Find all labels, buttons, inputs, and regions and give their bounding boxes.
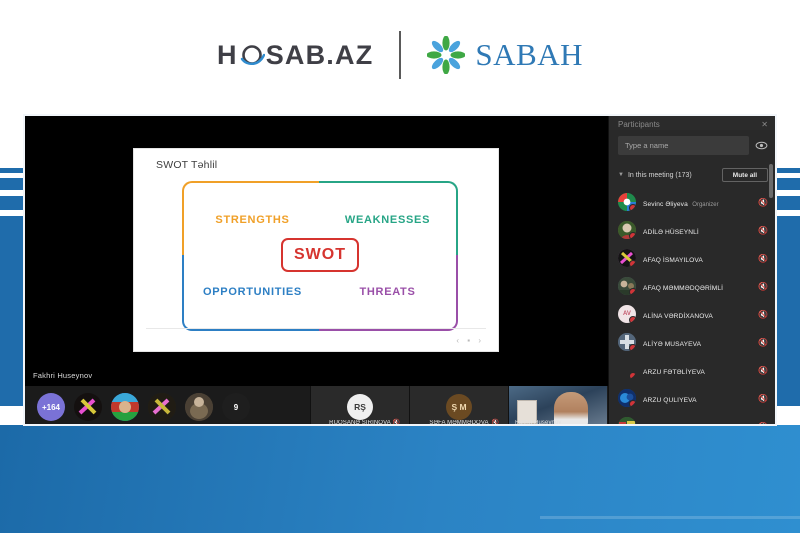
swot-diagram: STRENGTHS WEAKNESSES OPPORTUNITIES THREA… [182,181,458,329]
slide-navigation-controls[interactable]: ‹ ▪ › [456,336,484,345]
participant-filmstrip: +164 9 RŞ RÜQSANƏ ŞİRİNOVA 🔇 [25,386,612,426]
participant-name: ADİLƏ HÜSEYNLİ [643,229,699,236]
list-item[interactable]: ADİLƏ HÜSEYNLİ 🔇 [609,216,776,244]
filmstrip-avatar-2[interactable] [111,393,139,421]
presenter-name-label: Fakhri Huseynov [33,371,92,380]
mute-icon[interactable]: 🔇 [758,310,768,319]
list-item[interactable]: AFAQ MƏMMƏDQƏRİMLİ 🔇 [609,272,776,300]
participants-panel: Participants ✕ Type a name ▼ In this mee… [608,116,775,426]
hesab-logo-text-part2: SAB.AZ [266,40,374,71]
swot-center-label: SWOT [281,238,359,272]
participant-name-wrap: AFAQ İSMAYILOVA [643,249,758,267]
filmstrip-tile-1[interactable]: Ş M ŞƏFA MƏMMƏDOVA 🔇 [409,386,508,426]
participant-name: ALİYƏ MUSAYEVA [643,341,701,348]
bottom-blue-panel [0,425,800,533]
participant-name: ARZU QULIYEVA [643,397,697,404]
mute-icon[interactable]: 🔇 [758,254,768,263]
avatar: AV [618,305,636,323]
mute-icon[interactable]: 🔇 [758,422,768,427]
hesab-az-logo: H SAB.AZ [217,40,373,71]
close-icon[interactable]: ✕ [761,120,768,129]
tile-mute-icon-0: 🔇 [393,419,400,426]
avatar [618,333,636,351]
screenshot-root: H SAB.AZ [0,0,800,533]
tile-name-2: Fakhri Huseynov [509,420,607,426]
logo-row: H SAB.AZ [217,31,583,79]
scrollbar-thumb[interactable] [769,164,773,198]
list-item[interactable]: AFAQ İSMAYILOVA 🔇 [609,244,776,272]
avatar [618,389,636,407]
mute-icon[interactable]: 🔇 [758,366,768,375]
list-item[interactable]: ALİYƏ MUSAYEVA 🔇 [609,328,776,356]
mute-icon[interactable]: 🔇 [758,198,768,207]
search-input[interactable]: Type a name [618,136,749,155]
meeting-stage: SWOT Təhlil STRENGTHS WEAKNESSES OPPORTU… [25,116,612,386]
avatar [618,277,636,295]
avatar [618,193,636,211]
avatar [618,361,636,379]
swot-label-threats: THREATS [359,286,415,298]
participants-scrollbar[interactable] [769,164,773,414]
participant-name-wrap: AFAQ MƏMMƏDQƏRİMLİ [643,277,758,295]
teams-meeting-window: SWOT Təhlil STRENGTHS WEAKNESSES OPPORTU… [23,114,777,426]
avatar [618,249,636,267]
participant-name: ARZU FƏTƏLİYEVA [643,369,705,376]
mute-icon[interactable]: 🔇 [758,226,768,235]
list-item[interactable]: Sevinc Əliyeva Organizer 🔇 [609,188,776,216]
sabah-flower-icon [427,36,465,74]
panel-title: Participants [618,120,660,129]
in-meeting-section-row: ▼ In this meeting (173) Mute all [618,167,768,183]
filmstrip-avatar-3[interactable] [148,393,176,421]
avatar [618,221,636,239]
mute-icon[interactable]: 🔇 [758,282,768,291]
list-item[interactable]: ARZU QULIYEVA 🔇 [609,384,776,412]
avatar-rail: +164 9 [25,386,310,426]
slide-footer-rule [146,328,486,329]
filmstrip-tile-0[interactable]: RŞ RÜQSANƏ ŞİRİNOVA 🔇 [310,386,409,426]
overflow-count-avatar[interactable]: +164 [37,393,65,421]
participant-search-row: Type a name [618,136,768,155]
list-item[interactable]: Arzu Abbaszadə 🔇 [609,412,776,426]
filmstrip-avatar-4[interactable] [185,393,213,421]
header-logo-band: H SAB.AZ [0,0,800,110]
mute-icon[interactable]: 🔇 [758,338,768,347]
sabah-logo-text: SABAH [475,37,583,73]
participant-name-wrap: ARZU FƏTƏLİYEVA [643,361,758,379]
participant-name-wrap: Arzu Abbaszadə [643,417,758,426]
list-item[interactable]: ARZU FƏTƏLİYEVA 🔇 [609,356,776,384]
participant-name: Arzu Abbaszadə [643,425,692,426]
in-meeting-label: In this meeting (173) [628,172,692,179]
participant-name: Sevinc Əliyeva [643,201,688,208]
participant-name-wrap: ALİNA VƏRDİXANOVA [643,305,758,323]
filmstrip-avatar-1[interactable] [74,393,102,421]
participant-role: Organizer [692,202,718,208]
avatar [618,417,636,426]
hesab-swoosh-icon [239,42,265,68]
swot-label-weaknesses: WEAKNESSES [345,214,430,226]
swot-label-opportunities: OPPORTUNITIES [203,286,302,298]
tile-mute-icon-1: 🔇 [492,419,499,426]
shared-slide[interactable]: SWOT Təhlil STRENGTHS WEAKNESSES OPPORTU… [133,148,499,352]
mute-icon[interactable]: 🔇 [758,394,768,403]
sabah-logo: SABAH [427,36,583,74]
participant-name: AFAQ MƏMMƏDQƏRİMLİ [643,285,723,292]
slide-title: SWOT Təhlil [156,159,217,171]
participants-list: Sevinc Əliyeva Organizer 🔇 ADİLƏ HÜSEYNL… [609,188,776,422]
participant-name-wrap: Sevinc Əliyeva Organizer [643,193,758,211]
participant-name: AFAQ İSMAYILOVA [643,257,703,264]
list-item[interactable]: AV ALİNA VƏRDİXANOVA 🔇 [609,300,776,328]
participant-name-wrap: ARZU QULIYEVA [643,389,758,407]
tile-initials-0: RŞ [347,394,373,420]
tile-initials-1: Ş M [446,394,472,420]
mute-all-button[interactable]: Mute all [722,168,768,182]
participant-name: ALİNA VƏRDİXANOVA [643,313,713,320]
eye-icon[interactable] [755,139,768,152]
logo-divider [399,31,401,79]
hesab-logo-text-part1: H [217,40,238,71]
participant-name-wrap: ALİYƏ MUSAYEVA [643,333,758,351]
participants-panel-header: Participants ✕ [609,116,776,130]
chevron-down-icon: ▼ [618,172,624,178]
swot-label-strengths: STRENGTHS [215,214,289,226]
in-meeting-label-wrap[interactable]: ▼ In this meeting (173) [618,172,692,179]
filmstrip-tile-2[interactable]: Fakhri Huseynov [508,386,607,426]
filmstrip-avatar-5[interactable]: 9 [222,393,250,421]
participant-name-wrap: ADİLƏ HÜSEYNLİ [643,221,758,239]
